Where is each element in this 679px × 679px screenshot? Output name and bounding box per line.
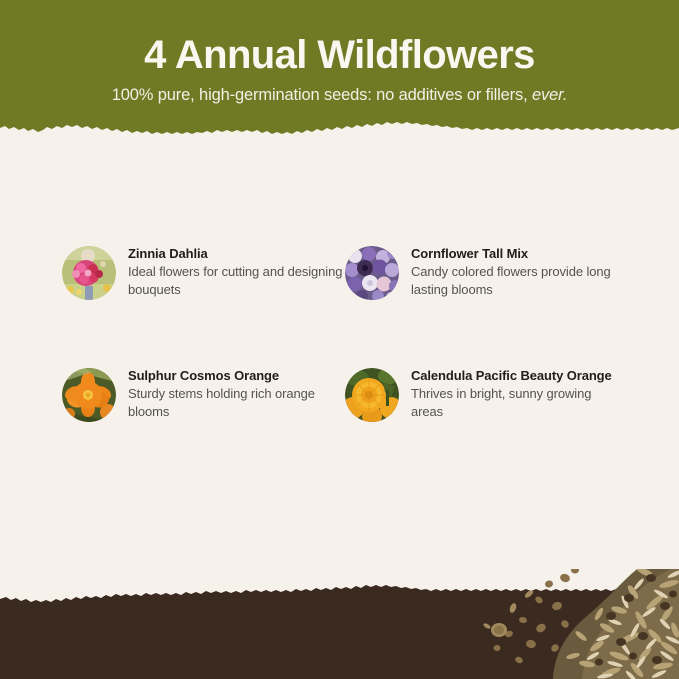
page-subtitle: 100% pure, high-germination seeds: no ad… [0,84,679,106]
feature-item-calendula-pacific-beauty-orange[interactable]: Calendula Pacific Beauty Orange Thrives … [345,362,635,422]
feature-item-sulphur-cosmos-orange[interactable]: Sulphur Cosmos Orange Sturdy stems holdi… [62,362,352,422]
feature-title: Sulphur Cosmos Orange [128,367,343,384]
sulphur-cosmos-orange-photo [62,368,116,422]
feature-description: Candy colored flowers provide long lasti… [411,263,626,298]
feature-title: Calendula Pacific Beauty Orange [411,367,626,384]
feature-item-cornflower-tall-mix[interactable]: Cornflower Tall Mix Candy colored flower… [345,240,635,300]
feature-text: Sulphur Cosmos Orange Sturdy stems holdi… [128,362,343,420]
feature-text: Calendula Pacific Beauty Orange Thrives … [411,362,626,420]
zinnia-dahlia-photo [62,246,116,300]
feature-item-zinnia-dahlia[interactable]: Zinnia Dahlia Ideal flowers for cutting … [62,240,352,300]
calendula-pacific-beauty-thumbnail-icon [345,368,399,422]
cornflower-tall-mix-thumbnail-icon [345,246,399,300]
feature-row: Sulphur Cosmos Orange Sturdy stems holdi… [0,362,679,484]
product-infographic: 4 Annual Wildflowers 100% pure, high-ger… [0,0,679,679]
feature-title: Cornflower Tall Mix [411,245,626,262]
wildflower-seed-pile [469,569,679,679]
feature-text: Cornflower Tall Mix Candy colored flower… [411,240,626,298]
calendula-pacific-beauty-photo [345,368,399,422]
feature-description: Thrives in bright, sunny growing areas [411,385,626,420]
feature-description: Ideal flowers for cutting and designing … [128,263,343,298]
footer-soil-band [0,569,679,679]
subtitle-emphasis: ever. [532,86,567,104]
cornflower-tall-mix-photo [345,246,399,300]
header-torn-edge [0,112,679,152]
header-banner: 4 Annual Wildflowers 100% pure, high-ger… [0,0,679,152]
feature-grid: Zinnia Dahlia Ideal flowers for cutting … [0,240,679,484]
subtitle-lead: 100% pure, high-germination seeds: no ad… [112,86,532,104]
zinnia-dahlia-thumbnail-icon [62,246,116,300]
feature-title: Zinnia Dahlia [128,245,343,262]
feature-text: Zinnia Dahlia Ideal flowers for cutting … [128,240,343,298]
header-text-block: 4 Annual Wildflowers 100% pure, high-ger… [0,0,679,106]
feature-row: Zinnia Dahlia Ideal flowers for cutting … [0,240,679,362]
page-title: 4 Annual Wildflowers [0,31,679,79]
sulphur-cosmos-orange-thumbnail-icon [62,368,116,422]
feature-description: Sturdy stems holding rich orange blooms [128,385,343,420]
